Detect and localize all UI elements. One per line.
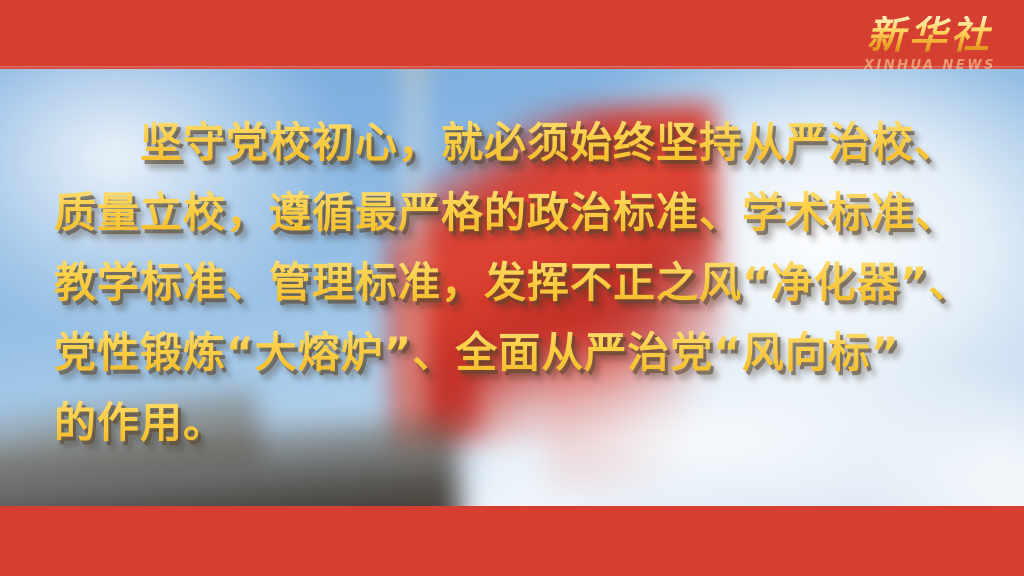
caption-line: 坚守党校初心，就必须始终坚持从严治校、 <box>54 108 970 178</box>
caption-line: 的作用。 <box>54 388 970 458</box>
bottom-red-bar <box>0 506 1024 576</box>
caption-block: 坚守党校初心，就必须始终坚持从严治校、 质量立校，遵循最严格的政治标准、学术标准… <box>0 108 1024 458</box>
caption-line: 教学标准、管理标准，发挥不正之风“净化器”、 <box>54 248 970 318</box>
caption-line: 党性锻炼“大熔炉”、全面从严治党“风向标” <box>54 318 970 388</box>
logo-chinese-text: 新华社 <box>864 16 996 54</box>
logo-english-text: XINHUA NEWS <box>864 59 996 72</box>
xinhua-news-logo: 新华社 XINHUA NEWS <box>864 16 996 72</box>
caption-line: 质量立校，遵循最严格的政治标准、学术标准、 <box>54 178 970 248</box>
video-frame: 新华社 XINHUA NEWS 坚守党校初心，就必须始终坚持从严治校、 质量立校… <box>0 0 1024 576</box>
